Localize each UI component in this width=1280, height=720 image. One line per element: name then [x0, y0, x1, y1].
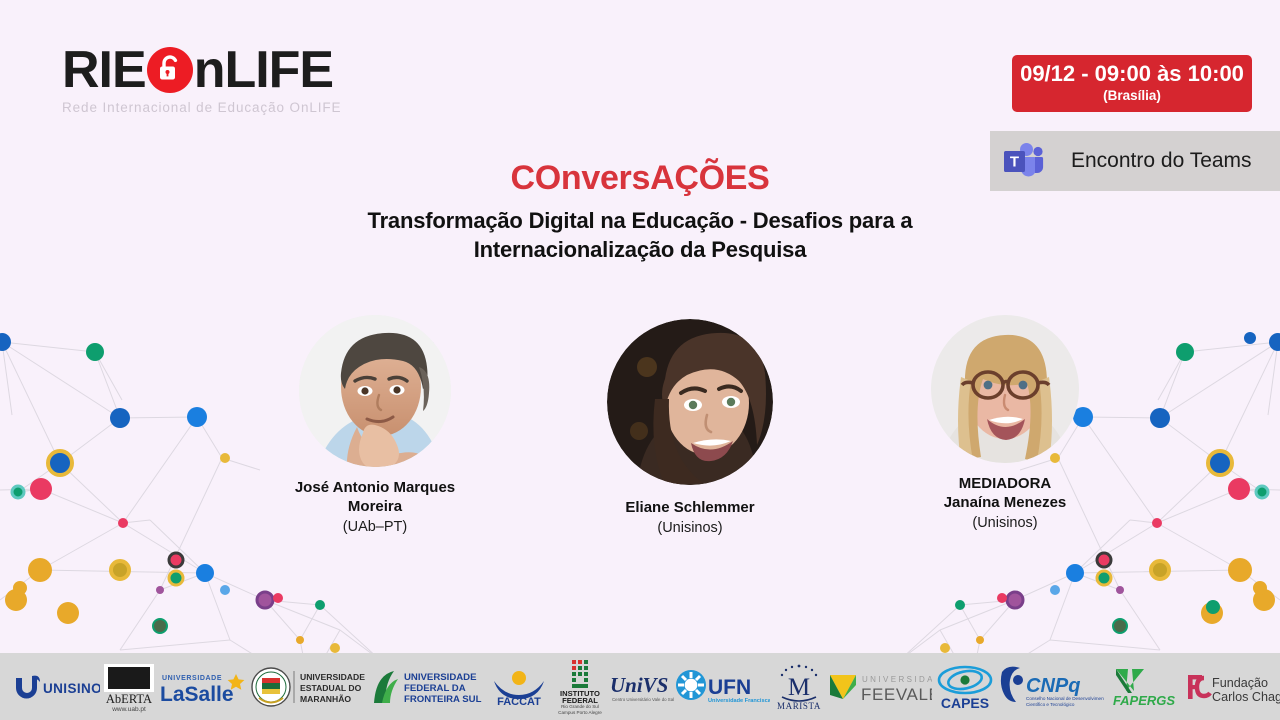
sponsor-logo-lasalle: UNIVERSIDADE LaSalle	[158, 658, 250, 716]
speaker-2-name-line-1: Eliane Schlemmer	[565, 499, 815, 518]
svg-text:UNIVERSIDADE: UNIVERSIDADE	[300, 672, 365, 682]
logo-wordmark: RIE nLIFE	[62, 44, 362, 96]
speaker-1-name: José Antonio Marques Moreira	[250, 479, 500, 517]
svg-text:AbERTA: AbERTA	[106, 692, 152, 706]
logo-tagline: Rede Internacional de Educação OnLIFE	[62, 100, 362, 115]
event-subtitle: Transformação Digital na Educação - Desa…	[0, 207, 1280, 264]
svg-text:Campus Porto Alegre: Campus Porto Alegre	[558, 710, 602, 715]
sponsor-logo-capes: CAPES	[932, 658, 998, 716]
rie-onlife-logo: RIE nLIFE Rede Internacional de Educação…	[62, 44, 362, 115]
sponsor-logo-uema: UNIVERSIDADE ESTADUAL DO MARANHÃO	[250, 658, 368, 716]
sponsor-logo-unisinos: UNISINOS	[12, 658, 100, 716]
open-padlock-icon	[147, 47, 193, 93]
speaker-card-3: MEDIADORA Janaína Menezes (Unisinos)	[880, 315, 1130, 532]
schedule-time-label: 09/12 - 09:00 às 10:00	[1018, 62, 1246, 87]
svg-text:MARANHÃO: MARANHÃO	[300, 694, 351, 704]
speaker-1-name-line-2: Moreira	[250, 498, 500, 517]
speaker-3-name-line-1: Janaína Menezes	[880, 494, 1130, 513]
event-heading: COnversAÇÕES Transformação Digital na Ed…	[0, 160, 1280, 265]
sponsor-logo-uffs: UNIVERSIDADE FEDERAL DA FRONTEIRA SUL	[368, 658, 486, 716]
svg-text:FEEVALE: FEEVALE	[861, 685, 932, 704]
svg-text:Científico e Tecnológico: Científico e Tecnológico	[1026, 702, 1075, 707]
speaker-3-name: Janaína Menezes	[880, 494, 1130, 513]
sponsor-logo-ufn: UFN Universidade Franciscana	[674, 658, 770, 716]
sponsor-logo-ifrs: INSTITUTO FEDERAL Rio Grande do Sul Camp…	[552, 658, 608, 716]
speaker-1-affiliation: (UAb–PT)	[250, 518, 500, 537]
svg-text:MARISTA: MARISTA	[777, 701, 821, 711]
sponsor-logo-cnpq: CNPq Conselho Nacional de Desenvolviment…	[998, 658, 1104, 716]
sponsor-logo-faccat: FACCAT	[486, 658, 552, 716]
svg-text:FAPERGS: FAPERGS	[1113, 693, 1175, 708]
svg-text:LaSalle: LaSalle	[160, 683, 234, 706]
svg-text:ESTADUAL DO: ESTADUAL DO	[300, 683, 362, 693]
event-title: COnversAÇÕES	[0, 160, 1280, 197]
svg-text:Centro Universitário Vale do S: Centro Universitário Vale do Salgado	[612, 697, 674, 702]
speaker-card-1: José Antonio Marques Moreira (UAb–PT)	[250, 315, 500, 536]
speaker-1-portrait	[299, 315, 451, 467]
sponsor-logo-feevale: UNIVERSIDADE FEEVALE	[828, 658, 932, 716]
speaker-2-name: Eliane Schlemmer	[565, 499, 815, 518]
svg-text:CNPq: CNPq	[1026, 675, 1080, 697]
svg-text:CAPES: CAPES	[941, 695, 989, 711]
schedule-timezone-label: (Brasília)	[1018, 88, 1246, 103]
svg-text:Carlos Chagas: Carlos Chagas	[1212, 690, 1280, 704]
sponsor-logo-univs: UniVS Centro Universitário Vale do Salga…	[608, 658, 674, 716]
logo-text-left: RIE	[62, 44, 146, 96]
speaker-3-affiliation: (Unisinos)	[880, 514, 1130, 533]
speaker-card-2: Eliane Schlemmer (Unisinos)	[565, 315, 815, 538]
sponsor-logo-universidade-aberta: AbERTA www.uab.pt	[100, 658, 158, 716]
speaker-3-portrait	[931, 315, 1079, 463]
svg-text:UNIVERSIDADE: UNIVERSIDADE	[162, 675, 222, 682]
svg-text:Fundação: Fundação	[1212, 676, 1268, 690]
sponsor-logo-fundacao-carlos-chagas: Fundação Carlos Chagas	[1184, 658, 1280, 716]
svg-text:UNISINOS: UNISINOS	[43, 681, 100, 696]
svg-text:Rio Grande do Sul: Rio Grande do Sul	[561, 704, 599, 709]
speakers-row: José Antonio Marques Moreira (UAb–PT)	[250, 315, 1130, 538]
sponsor-logo-fapergs: FAPERGS	[1104, 658, 1184, 716]
speaker-2-portrait	[607, 319, 773, 485]
speaker-1-name-line-1: José Antonio Marques	[250, 479, 500, 498]
event-subtitle-line-2: Internacionalização da Pesquisa	[0, 236, 1280, 265]
svg-text:Universidade Franciscana: Universidade Franciscana	[708, 698, 770, 704]
svg-text:UniVS: UniVS	[610, 673, 668, 697]
svg-text:Conselho Nacional de Desenvolv: Conselho Nacional de Desenvolvimento	[1026, 696, 1104, 701]
poster-canvas: RIE nLIFE Rede Internacional de Educação…	[0, 0, 1280, 720]
svg-text:UNIVERSIDADE: UNIVERSIDADE	[404, 672, 477, 683]
speaker-3-role: MEDIADORA	[880, 475, 1130, 494]
svg-text:www.uab.pt: www.uab.pt	[111, 706, 146, 713]
svg-text:UFN: UFN	[708, 676, 751, 699]
speaker-2-affiliation: (Unisinos)	[565, 519, 815, 538]
logo-text-right: nLIFE	[194, 44, 333, 96]
sponsor-logos-bar: UNISINOS AbERTA www.uab.pt UNIVERSIDADE …	[0, 653, 1280, 720]
event-subtitle-line-1: Transformação Digital na Educação - Desa…	[0, 207, 1280, 236]
sponsor-logo-marista: M MARISTA	[770, 658, 828, 716]
schedule-badge: 09/12 - 09:00 às 10:00 (Brasília)	[1012, 55, 1252, 112]
svg-text:FEDERAL DA: FEDERAL DA	[404, 683, 466, 694]
svg-text:FRONTEIRA SUL: FRONTEIRA SUL	[404, 694, 482, 705]
svg-text:M: M	[788, 674, 810, 701]
svg-text:FACCAT: FACCAT	[497, 696, 541, 707]
svg-text:UNIVERSIDADE: UNIVERSIDADE	[862, 675, 932, 684]
